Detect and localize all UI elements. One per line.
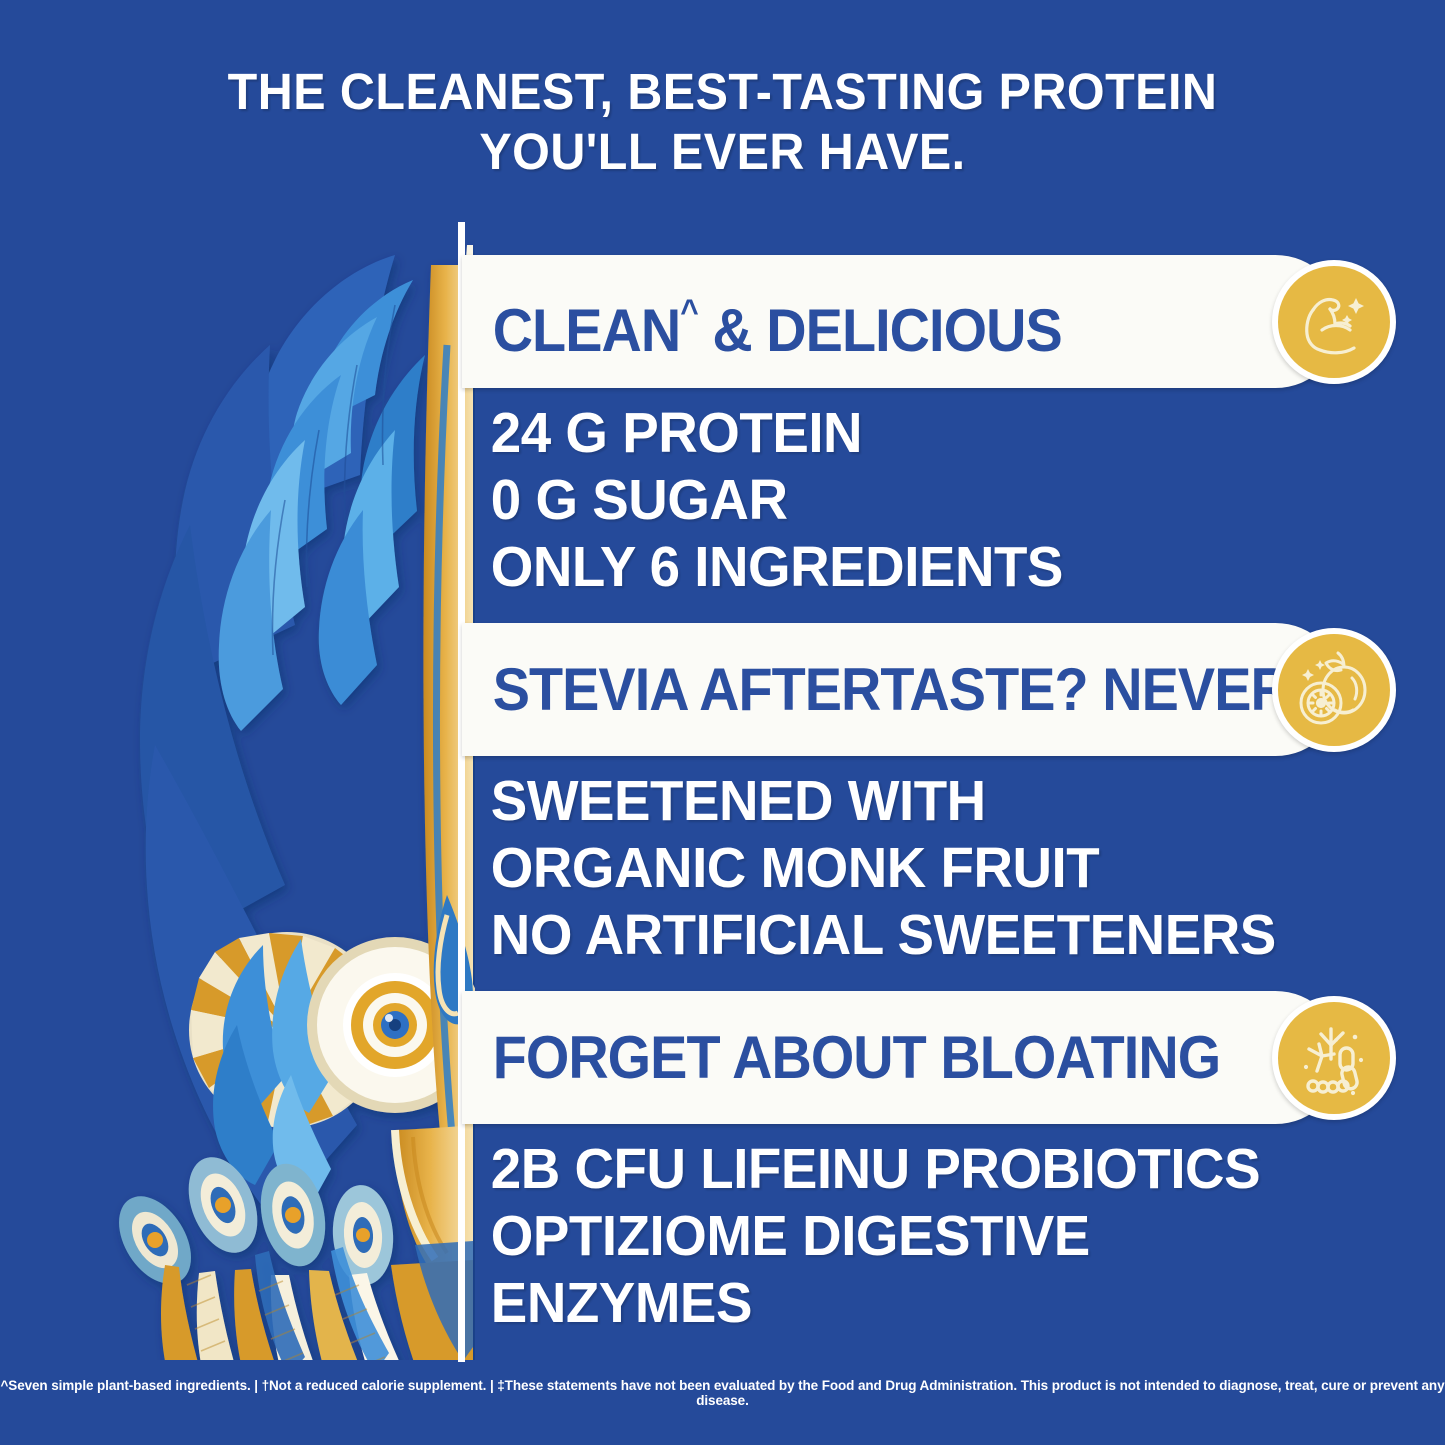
feature-banner-stevia-aftertaste: STEVIA AFTERTASTE? NEVER! [462, 623, 1342, 756]
feature-detail-sweetener: SWEETENED WITH ORGANIC MONK FRUIT NO ART… [462, 762, 1342, 987]
feature-banner-title: CLEAN^ & DELICIOUS [462, 281, 1062, 362]
feature-banner-title: STEVIA AFTERTASTE? NEVER! [462, 659, 1308, 721]
feature-banner-clean-delicious: CLEAN^ & DELICIOUS [462, 255, 1342, 388]
detail-line: ONLY 6 INGREDIENTS [462, 534, 1307, 601]
detail-line: SWEETENED WITH [462, 768, 1307, 835]
paper-craft-owl-illustration [95, 225, 475, 1360]
feature-rows-container: CLEAN^ & DELICIOUS 24 G PROTEIN 0 [462, 255, 1342, 1359]
headline-line-1: THE CLEANEST, BEST-TASTING PROTEIN [36, 62, 1409, 122]
headline-line-2: YOU'LL EVER HAVE. [36, 122, 1409, 182]
flexed-bicep-icon [1272, 260, 1396, 384]
feature-banner-forget-bloating: FORGET ABOUT BLOATING [462, 991, 1342, 1124]
detail-line: OPTIZIOME DIGESTIVE [462, 1203, 1307, 1270]
detail-line: 2B CFU LIFEINU PROBIOTICS [462, 1136, 1307, 1203]
detail-line: ORGANIC MONK FRUIT [462, 835, 1307, 902]
detail-line: 24 G PROTEIN [462, 400, 1307, 467]
legal-footnote: ^Seven simple plant-based ingredients. |… [0, 1378, 1445, 1408]
detail-line: ENZYMES [462, 1270, 1307, 1337]
feature-banner-title: FORGET ABOUT BLOATING [462, 1027, 1220, 1089]
monk-fruit-icon [1272, 628, 1396, 752]
feature-detail-protein-stats: 24 G PROTEIN 0 G SUGAR ONLY 6 INGREDIENT… [462, 394, 1342, 619]
probiotic-bacteria-icon [1272, 996, 1396, 1120]
detail-line: 0 G SUGAR [462, 467, 1307, 534]
detail-line: NO ARTIFICIAL SWEETENERS [462, 902, 1307, 969]
page-headline: THE CLEANEST, BEST-TASTING PROTEIN YOU'L… [0, 62, 1445, 182]
feature-detail-probiotics: 2B CFU LIFEINU PROBIOTICS OPTIZIOME DIGE… [462, 1130, 1342, 1355]
